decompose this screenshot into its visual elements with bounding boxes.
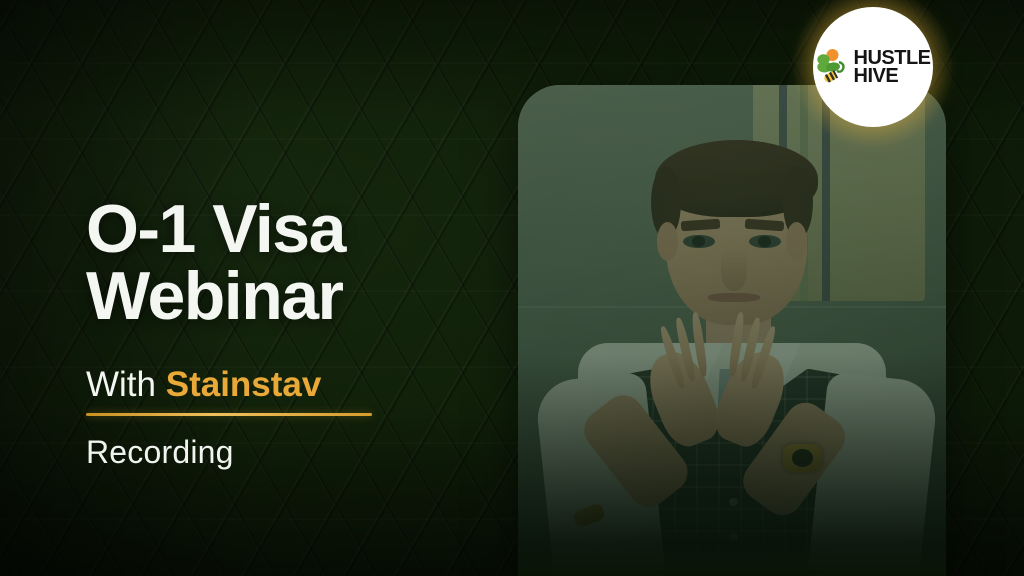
logo-wordmark: HUSTLE HIVE: [854, 49, 931, 86]
presenter-prefix: With: [86, 365, 166, 404]
gold-underline: [86, 413, 372, 416]
photo-gradient-fade: [518, 85, 946, 576]
page-title: O-1 Visa Webinar: [86, 196, 516, 329]
presenter-photo: [518, 85, 946, 576]
bee-honeycomb-icon: [816, 48, 850, 86]
logo-row: HUSTLE HIVE: [816, 48, 931, 86]
title-line-2: Webinar: [86, 263, 516, 330]
recording-label: Recording: [86, 434, 516, 471]
slide-copy: O-1 Visa Webinar With Stainstav Recordin…: [86, 196, 516, 471]
webinar-slide: O-1 Visa Webinar With Stainstav Recordin…: [0, 0, 1024, 576]
presenter-name: Stainstav: [166, 365, 322, 404]
presenter-photo-inner: [518, 85, 946, 576]
presenter-line: With Stainstav: [86, 365, 516, 405]
logo-word-hive: HIVE: [854, 67, 931, 85]
title-line-1: O-1 Visa: [86, 196, 516, 263]
brand-logo[interactable]: HUSTLE HIVE: [813, 7, 933, 127]
